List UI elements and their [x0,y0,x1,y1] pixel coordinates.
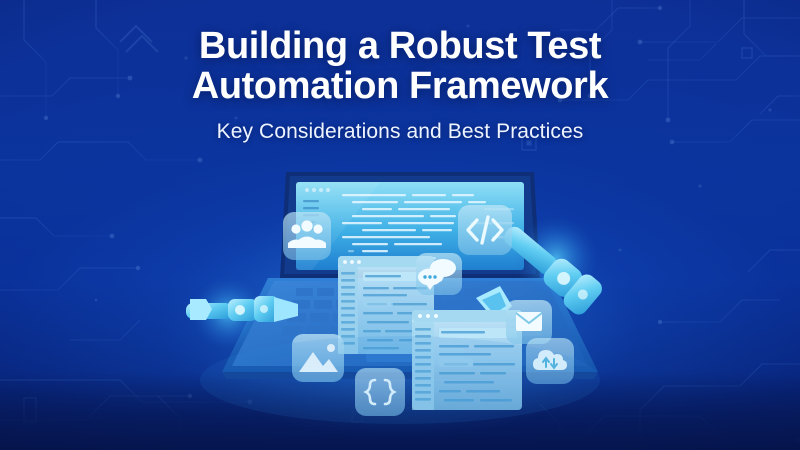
page-subtitle: Key Considerations and Best Practices [0,119,800,145]
poster-stage: Building a Robust Test Automation Framew… [0,0,800,450]
page-title-line-2: Automation Framework [0,66,800,106]
page-title-line-1: Building a Robust Test [199,25,601,67]
chat-bubbles-icon[interactable] [416,253,462,295]
header-text-block: Building a Robust Test Automation Framew… [0,26,800,145]
users-icon[interactable] [283,212,331,260]
envelope-icon[interactable] [506,300,552,344]
page-title: Building a Robust Test Automation Framew… [0,26,800,106]
code-tag-icon[interactable] [458,205,512,255]
